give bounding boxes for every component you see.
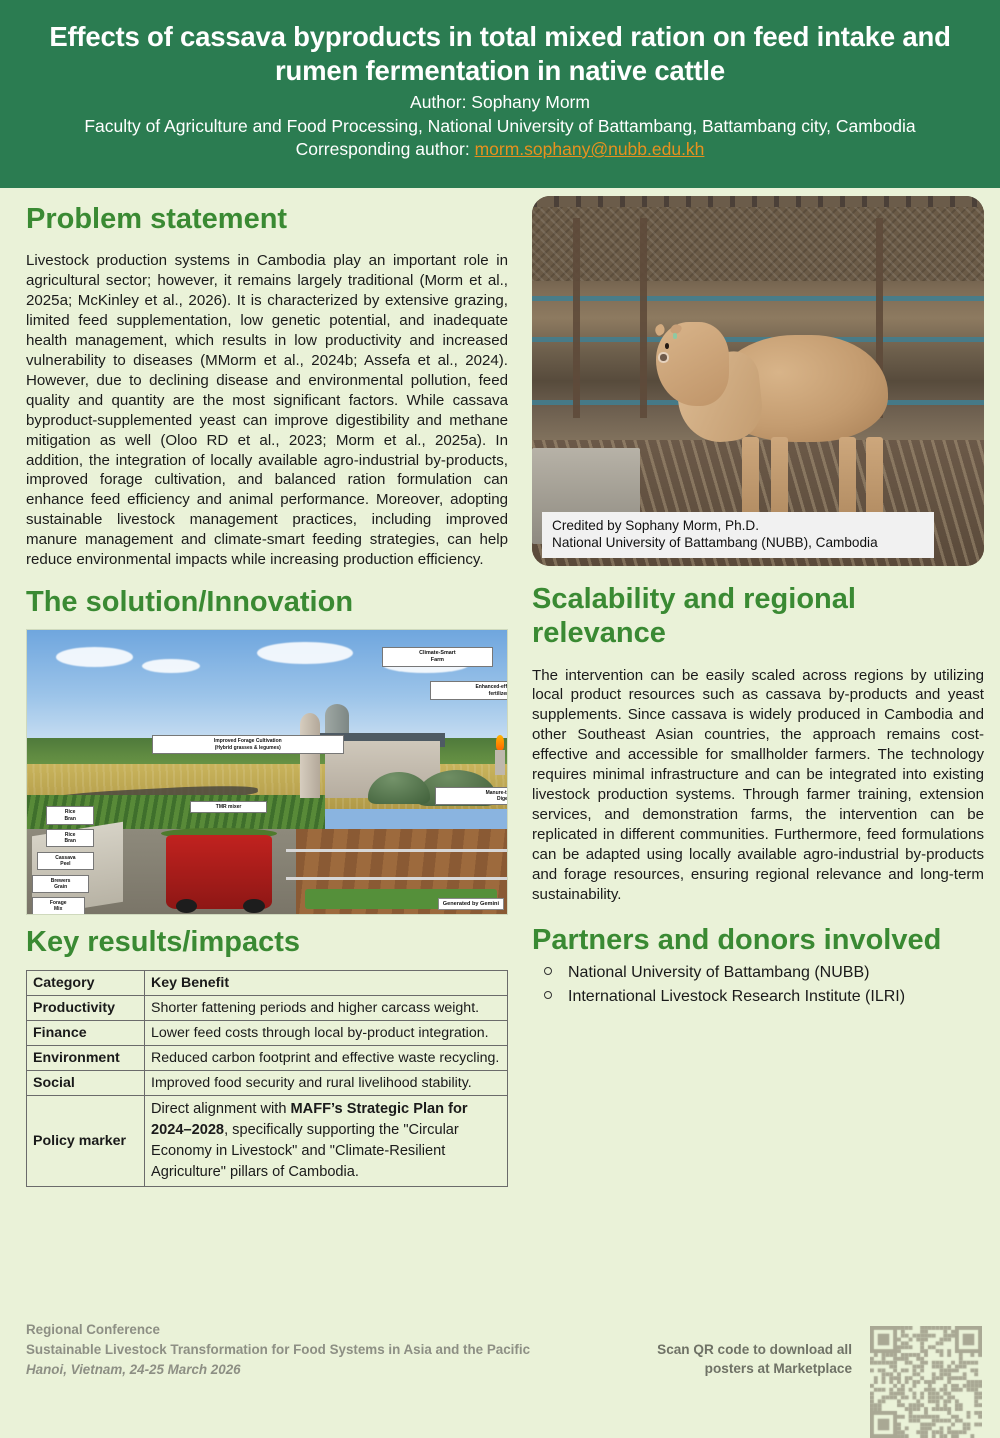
label-manure-to-energy: Manure-to-Energy Digester <box>435 787 508 805</box>
silo-icon <box>300 713 320 798</box>
barn-post <box>573 218 580 418</box>
qr-instruction-text: Scan QR code to download all posters at … <box>642 1340 852 1379</box>
pen-rail <box>286 849 507 852</box>
cell-key-benefit: Direct alignment with MAFF’s Strategic P… <box>145 1095 508 1187</box>
cell-category: Productivity <box>27 995 145 1020</box>
scalability-text: The intervention can be easily scaled ac… <box>532 666 984 905</box>
label-enhanced-fertilizers: Enhanced-efficiency fertilizers <box>430 681 508 699</box>
image-watermark: Generated by Gemini <box>438 898 504 910</box>
photo-caption-line2: National University of Battambang (NUBB)… <box>552 534 926 552</box>
conference-info: Regional Conference Sustainable Livestoc… <box>26 1320 530 1380</box>
table-row: ProductivityShorter fattening periods an… <box>27 995 508 1020</box>
barn-mesh-wall <box>532 207 984 281</box>
poster-footer: Regional Conference Sustainable Livestoc… <box>0 1304 1000 1414</box>
qr-code[interactable] <box>870 1326 982 1438</box>
label-brewers-grain: Brewers Grain <box>32 875 90 893</box>
list-item: National University of Battambang (NUBB) <box>542 961 984 985</box>
barn-post <box>640 218 647 418</box>
corresponding-label: Corresponding author: <box>296 139 475 159</box>
conference-location-date: Hanoi, Vietnam, 24-25 March 2026 <box>26 1360 530 1380</box>
section-heading-partners: Partners and donors involved <box>532 923 984 957</box>
cow-head <box>656 322 729 406</box>
label-rice-bran-2: Rice Bran <box>46 829 94 847</box>
table-header-row: Category Key Benefit <box>27 970 508 995</box>
column-header-category: Category <box>27 970 145 995</box>
cow <box>659 300 903 522</box>
label-climate-smart-farm: Climate-Smart Farm <box>382 647 492 666</box>
label-improved-forage: Improved Forage Cultivation (Hybrid gras… <box>152 735 344 753</box>
cattle-photo: Credited by Sophany Morm, Ph.D. National… <box>532 196 984 566</box>
cell-key-benefit: Lower feed costs through local by-produc… <box>145 1020 508 1045</box>
tmr-mixer <box>166 835 272 909</box>
tmr-wheel <box>243 899 265 913</box>
cow-eye <box>665 343 669 349</box>
partner-name: International Livestock Research Institu… <box>568 988 905 1005</box>
cell-category: Policy marker <box>27 1095 145 1187</box>
flare-flame-icon <box>496 735 505 749</box>
label-forage-mix: Forage Mix <box>32 897 85 915</box>
label-rice-bran: Rice Bran <box>46 806 94 824</box>
cell-key-benefit: Reduced carbon footprint and effective w… <box>145 1045 508 1070</box>
column-header-key-benefit: Key Benefit <box>145 970 508 995</box>
corresponding-author-line: Corresponding author: morm.sophany@nubb.… <box>30 138 970 161</box>
policy-plan-name: MAFF’s Strategic Plan for 2024–2028 <box>151 1101 468 1138</box>
problem-statement-text: Livestock production systems in Cambodia… <box>26 251 508 570</box>
cell-key-benefit: Shorter fattening periods and higher car… <box>145 995 508 1020</box>
table-row: FinanceLower feed costs through local by… <box>27 1020 508 1045</box>
tmr-wheel <box>176 899 198 913</box>
ear-tag-icon <box>673 333 677 340</box>
photo-caption-line1: Credited by Sophany Morm, Ph.D. <box>552 517 926 535</box>
poster-body: Problem statement Livestock production s… <box>0 188 1000 1308</box>
right-column: Credited by Sophany Morm, Ph.D. National… <box>532 196 984 1009</box>
table-row: Policy markerDirect alignment with MAFF’… <box>27 1095 508 1187</box>
label-tmr-mixer: TMR mixer <box>190 801 267 813</box>
conference-theme: Sustainable Livestock Transformation for… <box>26 1340 530 1360</box>
author-line: Author: Sophany Morm <box>30 91 970 114</box>
section-heading-problem: Problem statement <box>26 202 508 236</box>
solution-farm-image: Climate-Smart Farm Enhanced-efficiency f… <box>26 629 508 915</box>
circle-bullet-icon <box>544 991 552 999</box>
label-cassava-peel: Cassava Peel <box>37 852 95 870</box>
table-row: EnvironmentReduced carbon footprint and … <box>27 1045 508 1070</box>
pen-rail <box>286 877 507 880</box>
flare-stack <box>495 750 505 776</box>
email-link[interactable]: morm.sophany@nubb.edu.kh <box>475 139 705 159</box>
cow-muzzle <box>658 352 669 363</box>
conference-name: Regional Conference <box>26 1320 530 1340</box>
affiliation-line: Faculty of Agriculture and Food Processi… <box>30 115 970 138</box>
partners-list: National University of Battambang (NUBB)… <box>532 961 984 1009</box>
cell-category: Finance <box>27 1020 145 1045</box>
section-heading-results: Key results/impacts <box>26 925 508 959</box>
key-results-table: Category Key Benefit ProductivityShorter… <box>26 970 508 1188</box>
table-row: SocialImproved food security and rural l… <box>27 1070 508 1095</box>
section-heading-solution: The solution/Innovation <box>26 585 508 619</box>
list-item: International Livestock Research Institu… <box>542 985 984 1009</box>
cell-category: Social <box>27 1070 145 1095</box>
photo-caption: Credited by Sophany Morm, Ph.D. National… <box>542 512 934 558</box>
page-title: Effects of cassava byproducts in total m… <box>30 20 970 87</box>
circle-bullet-icon <box>544 967 552 975</box>
poster-header: Effects of cassava byproducts in total m… <box>0 0 1000 188</box>
partner-name: National University of Battambang (NUBB) <box>568 964 869 981</box>
cell-category: Environment <box>27 1045 145 1070</box>
cell-key-benefit: Improved food security and rural livelih… <box>145 1070 508 1095</box>
section-heading-scalability: Scalability and regional relevance <box>532 582 984 650</box>
cloud-icon <box>142 659 200 673</box>
left-column: Problem statement Livestock production s… <box>26 196 508 1187</box>
